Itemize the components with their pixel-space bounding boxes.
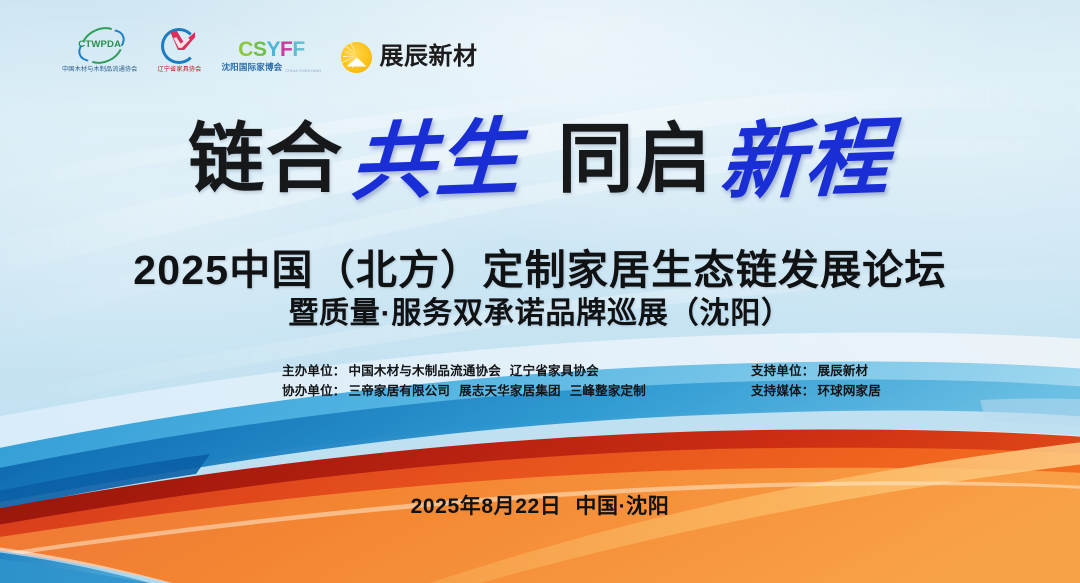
co-organizer-label: 协办单位： xyxy=(282,384,346,398)
organizer-item: 中国木材与木制品流通协会 xyxy=(349,364,501,378)
supporter-line: 支持单位：展辰新材 xyxy=(751,363,890,380)
headline-part-3: 同启 xyxy=(557,122,713,198)
media-partner-item: 环球网家居 xyxy=(817,384,881,398)
csyff-logo: CSYFF 沈阳国际家博会 CHINA SHENYANG xyxy=(221,39,321,73)
credits-right-column: 支持单位：展辰新材 支持媒体：环球网家居 xyxy=(751,363,890,400)
csyff-chinese-name: 沈阳国际家博会 xyxy=(221,61,282,73)
lnfa-mark-icon xyxy=(159,27,199,61)
ctwpda-mark-icon: CTWPDA xyxy=(73,27,127,61)
organizer-label: 主办单位： xyxy=(282,364,346,378)
headline-part-4: 新程 xyxy=(717,115,892,205)
zhanchen-sun-icon xyxy=(341,42,372,73)
co-organizer-line: 协办单位：三帝家居有限公司展志天华家居集团三峰整家定制 xyxy=(282,383,655,400)
co-organizer-item: 三帝家居有限公司 xyxy=(349,384,451,398)
headline-part-1: 链合 xyxy=(188,122,344,198)
event-dateline: 2025年8月22日中国·沈阳 xyxy=(0,490,1080,520)
co-organizer-item: 展志天华家居集团 xyxy=(459,384,561,398)
zhanchen-logo: 展辰新材 xyxy=(341,42,477,73)
sponsor-logo-strip: CTWPDA 中国木材与木制品流通协会 辽宁省家具协会 CSYFF 沈阳国际家博… xyxy=(62,27,477,73)
supporter-label: 支持单位： xyxy=(751,364,815,378)
forum-subtitle: 暨质量·服务双承诺品牌巡展（沈阳） xyxy=(0,288,1080,332)
ctwpda-abbr: CTWPDA xyxy=(78,39,121,50)
forum-title: 2025中国（北方）定制家居生态链发展论坛 xyxy=(0,236,1080,296)
credits-left-column: 主办单位：中国木材与木制品流通协会辽宁省家具协会 协办单位：三帝家居有限公司展志… xyxy=(282,363,655,400)
liaoning-furniture-association-logo: 辽宁省家具协会 xyxy=(157,27,201,73)
event-location: 中国·沈阳 xyxy=(575,495,669,518)
media-partner-line: 支持媒体：环球网家居 xyxy=(751,383,890,400)
zhanchen-brand-name: 展辰新材 xyxy=(379,45,477,69)
csyff-tagline: CHINA SHENYANG xyxy=(285,69,321,73)
media-partner-label: 支持媒体： xyxy=(751,384,815,398)
poster-headline: 链合 共生 同启 新程 xyxy=(0,118,1080,202)
csyff-letters: CSYFF xyxy=(238,39,304,60)
ctwpda-logo: CTWPDA 中国木材与木制品流通协会 xyxy=(62,27,137,73)
lnfa-chinese-name: 辽宁省家具协会 xyxy=(157,64,201,73)
event-poster: CTWPDA 中国木材与木制品流通协会 辽宁省家具协会 CSYFF 沈阳国际家博… xyxy=(0,0,1080,583)
zhanchen-rays-icon xyxy=(341,42,372,73)
credits-block: 主办单位：中国木材与木制品流通协会辽宁省家具协会 协办单位：三帝家居有限公司展志… xyxy=(282,363,890,400)
supporter-item: 展辰新材 xyxy=(817,364,868,378)
event-date: 2025年8月22日 xyxy=(411,495,562,518)
organizer-item: 辽宁省家具协会 xyxy=(510,364,599,378)
organizer-line: 主办单位：中国木材与木制品流通协会辽宁省家具协会 xyxy=(282,363,655,380)
co-organizer-item: 三峰整家定制 xyxy=(570,384,646,398)
ctwpda-chinese-name: 中国木材与木制品流通协会 xyxy=(62,64,137,73)
headline-part-2: 共生 xyxy=(348,115,523,205)
